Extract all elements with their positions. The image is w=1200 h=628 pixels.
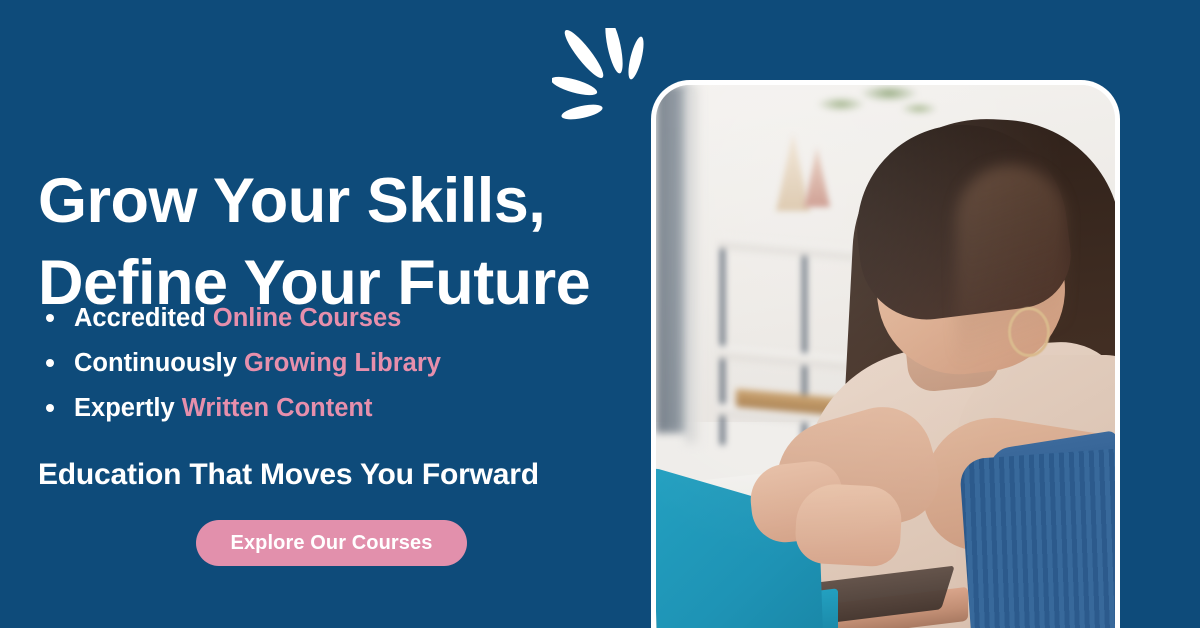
photo-plant bbox=[796, 85, 946, 133]
bullet-lead-text: Accredited bbox=[74, 304, 213, 332]
tagline: Education That Moves You Forward bbox=[38, 458, 539, 492]
list-item: Continuously Growing Library bbox=[46, 348, 636, 378]
headline-line-1: Grow Your Skills, bbox=[38, 160, 638, 242]
bullet-highlight-text: Growing Library bbox=[244, 349, 441, 377]
feature-list: Accredited Online Courses Continuously G… bbox=[46, 303, 636, 438]
photo-door-jamb bbox=[656, 85, 690, 433]
bullet-dot-icon bbox=[46, 314, 54, 322]
photo-wall-edge bbox=[686, 85, 700, 443]
bullet-lead-text: Continuously bbox=[74, 349, 244, 377]
list-item: Expertly Written Content bbox=[46, 393, 636, 423]
bullet-highlight-text: Online Courses bbox=[213, 304, 401, 332]
explore-courses-button[interactable]: Explore Our Courses bbox=[196, 520, 467, 566]
bullet-lead-text: Expertly bbox=[74, 394, 182, 422]
bullet-dot-icon bbox=[46, 359, 54, 367]
page-title: Grow Your Skills, Define Your Future bbox=[38, 160, 638, 324]
bullet-dot-icon bbox=[46, 404, 54, 412]
photo-hair-sheen bbox=[956, 165, 1066, 415]
bullet-highlight-text: Written Content bbox=[182, 394, 373, 422]
photo-decor-cone bbox=[804, 147, 830, 207]
content-column: Grow Your Skills, Define Your Future Acc… bbox=[38, 0, 638, 628]
photo-earring bbox=[1008, 307, 1050, 357]
photo-jeans bbox=[959, 449, 1115, 628]
photo-hand-right bbox=[794, 482, 903, 567]
list-item: Accredited Online Courses bbox=[46, 303, 636, 333]
hero-photo-card bbox=[656, 85, 1115, 628]
promo-banner: Grow Your Skills, Define Your Future Acc… bbox=[0, 0, 1200, 628]
hero-photo bbox=[656, 85, 1115, 628]
